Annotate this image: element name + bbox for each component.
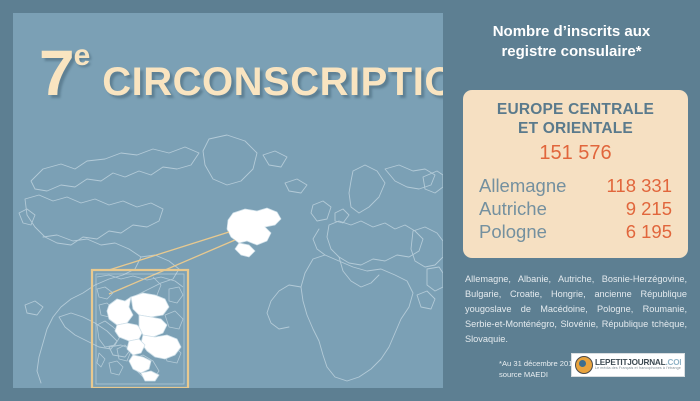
world-map	[13, 109, 443, 388]
table-row: Pologne 6 195	[477, 221, 674, 243]
inset-highlighted-countries	[107, 293, 181, 381]
headline-line-1: Nombre d’inscrits aux	[449, 22, 694, 42]
infographic-root: 7 e CIRCONSCRIPTION	[0, 0, 700, 401]
map-inset-box	[92, 270, 188, 388]
globe-icon	[575, 356, 593, 374]
table-row: Autriche 9 215	[477, 198, 674, 220]
publisher-logo: LEPETITJOURNAL.COM Le média des Français…	[571, 353, 685, 377]
statistics-card: EUROPE CENTRALE ET ORIENTALE 151 576 All…	[463, 90, 688, 258]
row-label: Autriche	[479, 198, 547, 220]
card-region-line-1: EUROPE CENTRALE	[477, 100, 674, 119]
row-value: 6 195	[626, 221, 672, 243]
headline-line-2: registre consulaire*	[449, 42, 694, 62]
country-list: Allemagne, Albanie, Autriche, Bosnie-Her…	[465, 272, 687, 347]
row-value: 118 331	[607, 175, 673, 197]
logo-tagline: Le média des Français et francophones à …	[595, 367, 681, 371]
table-row: Allemagne 118 331	[477, 175, 674, 197]
headline: Nombre d’inscrits aux registre consulair…	[449, 22, 694, 63]
card-country-rows: Allemagne 118 331 Autriche 9 215 Pologne…	[477, 175, 674, 243]
page-title: 7 e CIRCONSCRIPTION	[39, 41, 443, 105]
map-highlight-region	[227, 208, 281, 257]
left-panel: 7 e CIRCONSCRIPTION	[13, 13, 443, 388]
right-column: Nombre d’inscrits aux registre consulair…	[443, 0, 700, 401]
row-label: Pologne	[479, 221, 547, 243]
logo-text: LEPETITJOURNAL.COM Le média des Français…	[595, 359, 681, 371]
title-word: CIRCONSCRIPTION	[102, 62, 443, 102]
title-number: 7	[39, 41, 74, 105]
card-region-title: EUROPE CENTRALE ET ORIENTALE	[477, 100, 674, 139]
card-region-line-2: ET ORIENTALE	[477, 119, 674, 138]
title-ordinal-suffix: e	[74, 41, 91, 71]
map-continent-outlines	[19, 135, 443, 383]
row-label: Allemagne	[479, 175, 566, 197]
card-total-value: 151 576	[477, 140, 674, 166]
row-value: 9 215	[626, 198, 672, 220]
